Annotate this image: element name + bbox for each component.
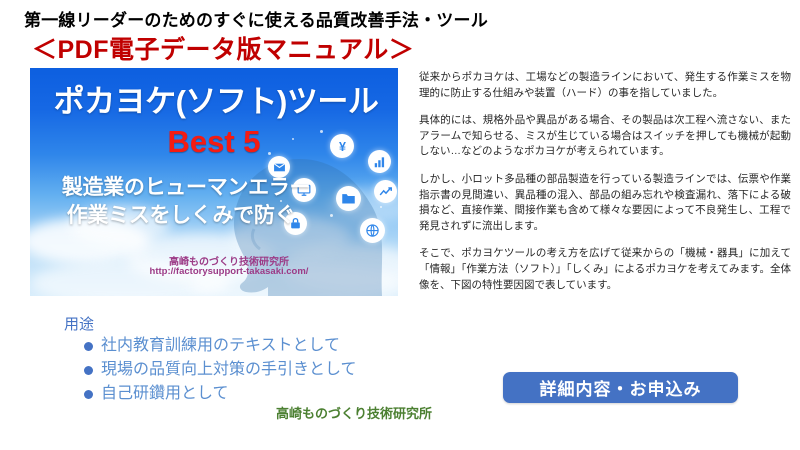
- usage-heading: 用途: [64, 313, 94, 334]
- description-paragraph: しかし、小ロット多品種の部品製造を行っている製造ラインでは、伝票や作業指示書の見…: [419, 172, 791, 234]
- globe-icon: [360, 218, 385, 243]
- description-paragraph: 具体的には、規格外品や異品がある場合、その製品は次工程へ流さない、またアラームで…: [419, 113, 791, 160]
- list-item: 社内教育訓練用のテキストとして: [84, 334, 357, 358]
- cover-main-title: ポカヨケ(ソフト)ツール: [38, 76, 394, 121]
- usage-list: 社内教育訓練用のテキストとして 現場の品質向上対策の手引きとして 自己研鑽用とし…: [84, 334, 357, 406]
- cover-website-url: http://factorysupport-takasaki.com/: [134, 266, 324, 277]
- description-paragraph: そこで、ポカヨケツールの考え方を広げて従来からの「機械・器具」に加えて「情報」「…: [419, 246, 791, 293]
- details-and-apply-button[interactable]: 詳細内容・お申込み: [503, 372, 738, 403]
- list-item: 現場の品質向上対策の手引きとして: [84, 358, 357, 382]
- cover-best-label: Best 5: [30, 124, 398, 160]
- trending-up-icon: [374, 180, 397, 203]
- cover-subtitle-line-2: 作業ミスをしくみで防ぐ: [36, 199, 326, 229]
- description-paragraph: 従来からポカヨケは、工場などの製造ラインにおいて、発生する作業ミスを物理的に防止…: [419, 70, 791, 101]
- page-title: 第一線リーダーのためのすぐに使える品質改善手法・ツール: [24, 6, 624, 31]
- usage-item-label: 自己研鑽用として: [101, 382, 229, 406]
- folder-icon: [336, 186, 361, 211]
- page-subtitle: ＜PDF電子データ版マニュアル＞: [32, 30, 652, 66]
- usage-item-label: 現場の品質向上対策の手引きとして: [101, 358, 357, 382]
- network-dot: [330, 214, 333, 217]
- cover-subtitle-line-1: 製造業のヒューマンエラー: [36, 171, 336, 201]
- bullet-dot-icon: [84, 390, 93, 399]
- bullet-dot-icon: [84, 342, 93, 351]
- network-dot: [380, 206, 382, 208]
- bullet-dot-icon: [84, 366, 93, 375]
- footer-organization-name: 高崎ものづくり技術研究所: [276, 403, 432, 422]
- book-cover-image: ¥ ポカヨケ(ソフト)ツール Best 5 製造業のヒューマンエラー 作業ミスを…: [30, 68, 398, 296]
- usage-item-label: 社内教育訓練用のテキストとして: [101, 334, 340, 358]
- description-text-block: 従来からポカヨケは、工場などの製造ラインにおいて、発生する作業ミスを物理的に防止…: [419, 70, 791, 305]
